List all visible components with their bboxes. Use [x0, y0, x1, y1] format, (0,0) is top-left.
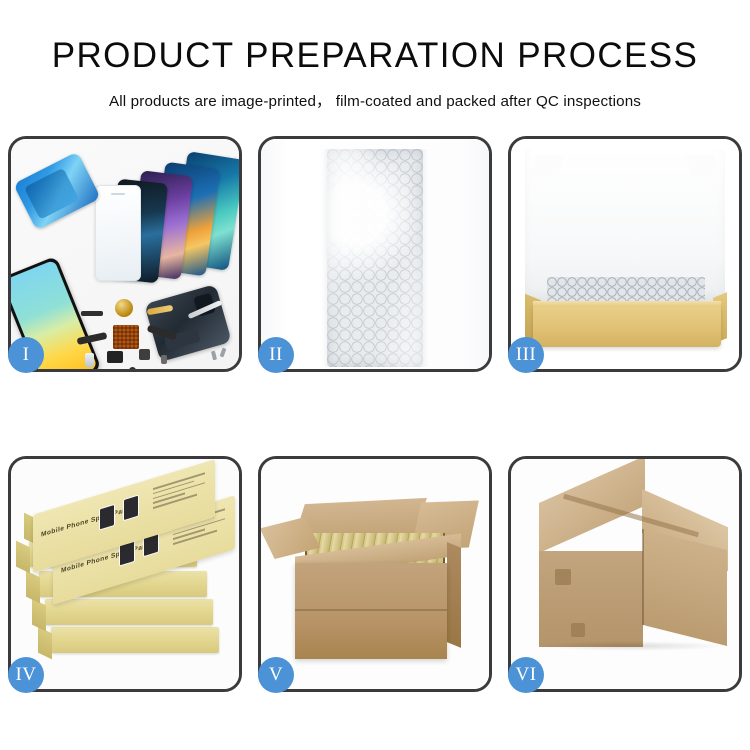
part-bracket-small — [161, 355, 167, 364]
step-badge-4: IV — [8, 657, 44, 693]
box-side — [16, 541, 30, 574]
box-spec-lines-1 — [153, 472, 205, 512]
stacked-box-5 — [45, 599, 213, 625]
carton-shadow — [537, 641, 727, 651]
step-6-image — [511, 459, 739, 689]
part-sim-tray — [85, 353, 94, 367]
step-1-image — [11, 139, 239, 369]
process-step-4: Mobile Phone Spare Parts Mobile Phone Sp… — [8, 456, 242, 692]
process-step-grid: I II III — [8, 136, 742, 692]
carton-label-patch-1 — [555, 569, 571, 585]
step-2-image — [261, 139, 489, 369]
carton-front-face — [295, 563, 447, 659]
stacked-box-6 — [51, 627, 219, 653]
bubble-wrap-sheen — [327, 149, 423, 367]
step-badge-3: III — [508, 337, 544, 373]
carton-label-patch-2 — [571, 623, 585, 637]
adhesive-sheet — [13, 151, 101, 230]
carton-side-face — [643, 529, 727, 646]
product-preparation-infographic: PRODUCT PREPARATION PROCESS All products… — [0, 0, 750, 750]
carton-side-right — [447, 542, 461, 648]
process-step-3: III — [508, 136, 742, 372]
box-artwork-screen-b — [123, 494, 139, 521]
part-screw-2 — [211, 351, 217, 361]
part-connector-strip — [81, 311, 103, 316]
part-camera-module — [139, 349, 150, 360]
process-step-6: VI — [508, 456, 742, 692]
box-front-lip — [533, 301, 721, 307]
phone-back-housing — [144, 284, 232, 362]
process-step-1: I — [8, 136, 242, 372]
process-step-2: II — [258, 136, 492, 372]
part-circuit-chip — [113, 325, 139, 349]
box-side — [32, 599, 46, 632]
box-side — [26, 571, 40, 604]
kraft-box-tray — [533, 305, 721, 347]
part-screw-1 — [220, 348, 227, 358]
carton-front-face — [539, 551, 643, 647]
step-badge-6: VI — [508, 657, 544, 693]
step-4-image: Mobile Phone Spare Parts Mobile Phone Sp… — [11, 459, 239, 689]
box-side — [38, 627, 52, 660]
carton-vertical-edge — [642, 529, 644, 625]
step-badge-2: II — [258, 337, 294, 373]
process-step-5: V — [258, 456, 492, 692]
page-subtitle: All products are image-printed， film-coa… — [0, 73, 750, 111]
step-badge-5: V — [258, 657, 294, 693]
part-vibrator-motor — [115, 299, 133, 317]
header: PRODUCT PREPARATION PROCESS All products… — [0, 0, 750, 111]
box-artwork-screen-a — [99, 504, 115, 531]
page-title: PRODUCT PREPARATION PROCESS — [0, 0, 750, 73]
step-5-image — [261, 459, 489, 689]
step-badge-1: I — [8, 337, 44, 373]
part-speaker — [107, 351, 123, 363]
part-button-small — [129, 367, 136, 369]
carton-seam — [295, 609, 447, 611]
box-stack: Mobile Phone Spare Parts Mobile Phone Sp… — [19, 479, 233, 675]
step-3-image — [511, 139, 739, 369]
box-label-text-1: Mobile Phone Spare Parts — [41, 505, 132, 538]
screen-protector-glass — [95, 185, 141, 281]
